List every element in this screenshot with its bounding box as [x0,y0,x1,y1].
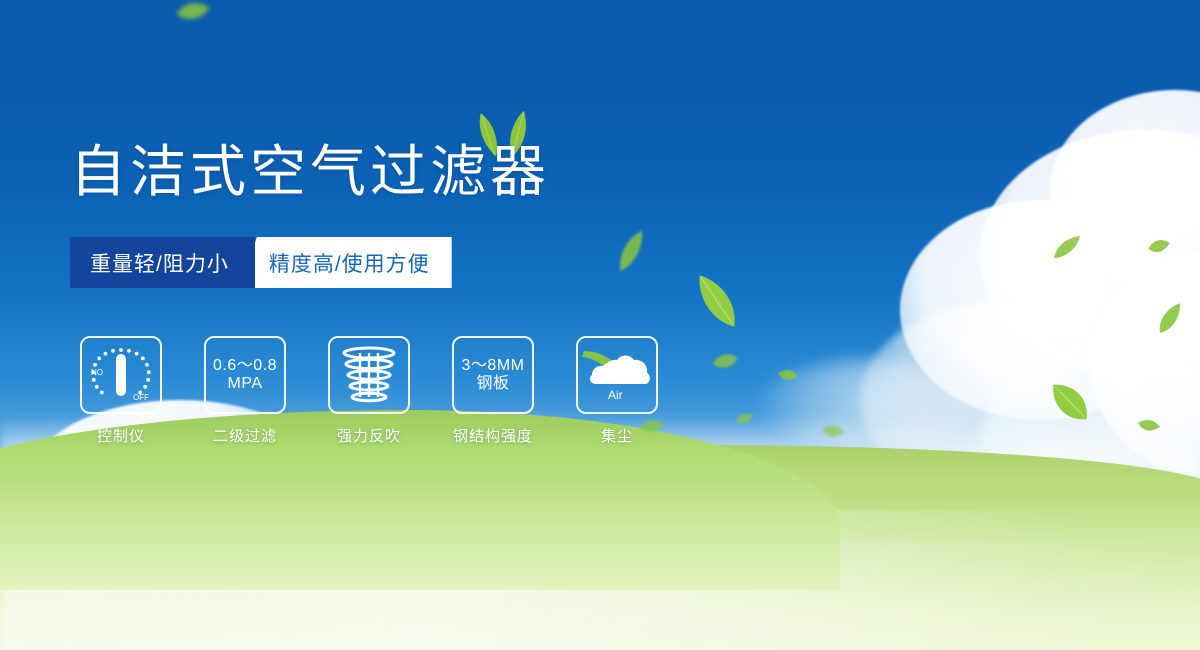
feature-icon-box: NO OFF [80,336,162,414]
dial-off-label: OFF [133,393,149,402]
feature-item-steel-plate[interactable]: 3～8MM 钢板 钢结构强度 [452,336,534,446]
filter-coil-icon [341,346,397,404]
feature-icon-box [328,336,410,414]
control-dial-icon: NO OFF [87,344,155,406]
feature-label: 二级过滤 [213,425,277,446]
feature-icon-box: 3～8MM 钢板 [452,336,534,414]
pressure-value-icon: 0.6～0.8 MPA [213,357,277,394]
feature-icon-box: Air [576,336,658,414]
page-title: 自洁式空气过滤器 [70,144,550,200]
feature-label: 控制仪 [97,425,145,446]
air-label: Air [608,388,623,402]
dial-no-label: NO [91,368,103,377]
subtitle-right-badge: 精度高/使用方便 [241,237,452,288]
feature-item-pressure[interactable]: 0.6～0.8 MPA 二级过滤 [204,336,286,446]
air-cloud-icon: Air [582,347,652,403]
hero-banner: 自洁式空气过滤器 重量轻/阻力小 精度高/使用方便 [0,0,1200,650]
feature-icon-box: 0.6～0.8 MPA [204,336,286,414]
feature-item-control-dial[interactable]: NO OFF 控制仪 [80,336,162,446]
subtitle-left-badge: 重量轻/阻力小 [70,237,255,288]
feature-item-dust-collection[interactable]: Air 集尘 [576,336,658,446]
floating-leaf-icon [777,367,799,384]
feature-item-backblow[interactable]: 强力反吹 [328,336,410,446]
feature-label: 集尘 [601,425,633,446]
steel-plate-value-icon: 3～8MM 钢板 [462,357,525,394]
feature-list: NO OFF 控制仪 0.6～0.8 MPA 二级过滤 [80,336,658,446]
subtitle-bar: 重量轻/阻力小 精度高/使用方便 [70,237,452,288]
floating-leaf-icon [821,423,844,440]
feature-label: 强力反吹 [337,425,401,446]
feature-label: 钢结构强度 [453,425,533,446]
